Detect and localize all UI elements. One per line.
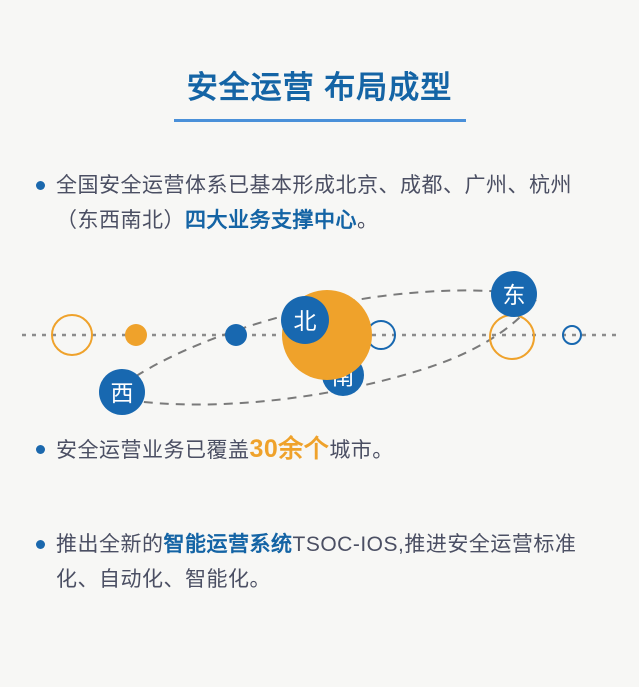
node-xi[interactable]: 西 <box>99 369 145 415</box>
bullet-text-3: 推出全新的智能运营系统TSOC-IOS,推进安全运营标准化、自动化、智能化。 <box>56 527 616 597</box>
bullet-1-seg-1: （东西南北） <box>56 209 185 232</box>
bullet-text-1: 全国安全运营体系已基本形成北京、成都、广州、杭州 （东西南北）四大业务支撑中心。 <box>56 168 572 238</box>
node-xi-label: 西 <box>111 380 134 406</box>
orbit-diagram: 南 北 西 东 <box>0 252 639 427</box>
bullet-item-3: 推出全新的智能运营系统TSOC-IOS,推进安全运营标准化、自动化、智能化。 <box>36 527 616 597</box>
node-dong[interactable]: 东 <box>491 271 537 317</box>
bullet-1-seg-3: 。 <box>357 209 379 232</box>
slide-page: 安全运营 布局成型 全国安全运营体系已基本形成北京、成都、广州、杭州 （东西南北… <box>0 0 639 687</box>
bullet-2-seg-2: 城市。 <box>329 439 394 462</box>
bullet-3-seg-0: 推出全新的 <box>56 533 164 556</box>
page-title: 安全运营 布局成型 <box>0 66 639 110</box>
marker-orange-ring-right <box>490 315 534 359</box>
node-bei[interactable]: 北 <box>281 296 329 344</box>
bullet-2-seg-0: 安全运营业务已覆盖 <box>56 439 250 462</box>
bullet-dot-icon <box>36 540 45 549</box>
page-title-block: 安全运营 布局成型 <box>0 66 639 122</box>
bullet-1-seg-2: 四大业务支撑中心 <box>185 209 357 232</box>
bullet-1-seg-0: 全国安全运营体系已基本形成北京、成都、广州、杭州 <box>56 174 572 197</box>
bullet-dot-icon <box>36 445 45 454</box>
bullet-dot-icon <box>36 181 45 190</box>
bullet-2-seg-1: 30余个 <box>250 435 330 463</box>
node-bei-label: 北 <box>294 308 317 334</box>
marker-orange-dot <box>125 324 147 346</box>
bullet-item-2: 安全运营业务已覆盖30余个城市。 <box>36 432 616 468</box>
bullet-item-1: 全国安全运营体系已基本形成北京、成都、广州、杭州 （东西南北）四大业务支撑中心。 <box>36 168 616 238</box>
title-underline-rule <box>174 119 466 122</box>
marker-blue-dot <box>225 324 247 346</box>
bullet-text-2: 安全运营业务已覆盖30余个城市。 <box>56 432 394 468</box>
bullet-3-seg-1: 智能运营系统 <box>164 533 293 556</box>
node-dong-label: 东 <box>503 282 526 308</box>
